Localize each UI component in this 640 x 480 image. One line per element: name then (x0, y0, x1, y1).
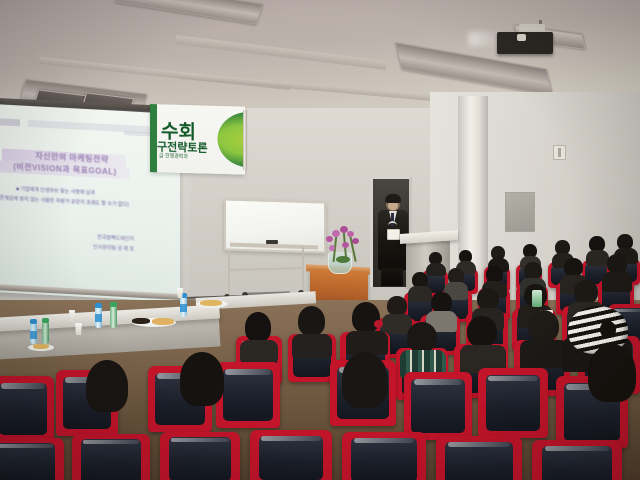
auditorium-seat-empty (0, 376, 54, 442)
auditorium-seat-empty (404, 372, 472, 440)
auditorium-seat-empty (342, 432, 426, 480)
auditorium-seat-empty (72, 434, 150, 480)
audience-member-long-hair (584, 344, 640, 410)
audience-member (602, 254, 632, 288)
audience-member-long-hair (240, 312, 278, 356)
audience-green-cup (532, 290, 542, 307)
auditorium-seat-empty (436, 436, 522, 480)
audience-member-long-hair (80, 360, 136, 420)
auditorium-seat-empty (250, 430, 332, 480)
audience-member-plaid (400, 322, 446, 374)
audience-area (0, 0, 640, 480)
auditorium-seat-empty (0, 438, 64, 480)
auditorium-seat-empty (532, 440, 622, 480)
hair-tie-icon (374, 320, 383, 328)
audience-member-long-hair (336, 352, 396, 416)
auditorium-seat-empty (478, 368, 548, 438)
auditorium-seat-empty (160, 432, 240, 480)
lecture-hall-photo: 자신만의 마케팅전략 (비전VISION과 목표GOAL) ■ 기업에게 인생무… (0, 0, 640, 480)
audience-member (460, 316, 506, 368)
audience-member (520, 310, 568, 364)
audience-member (426, 252, 446, 274)
audience-member-long-hair (174, 352, 232, 414)
audience-member (292, 306, 332, 352)
audience-member (346, 302, 388, 350)
